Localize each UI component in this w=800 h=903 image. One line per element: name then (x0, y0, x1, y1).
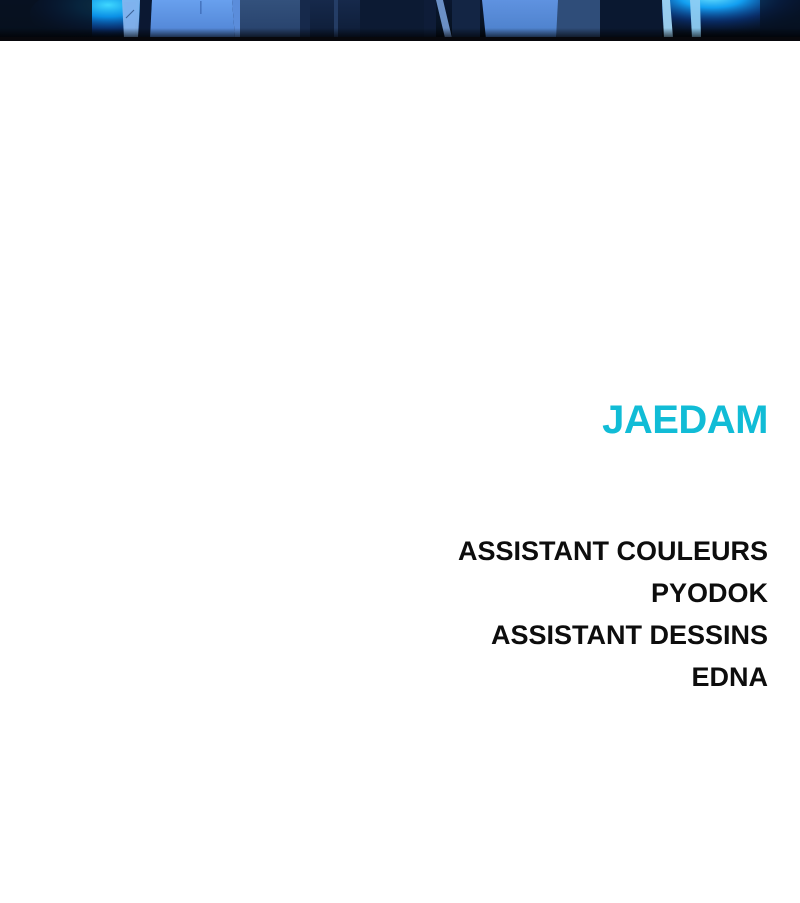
night-city-skyline-illustration (0, 0, 800, 41)
credit-name-pyodok: PYODOK (348, 572, 768, 614)
studio-name: JAEDAM (348, 398, 768, 442)
credit-list: ASSISTANT COULEURS PYODOK ASSISTANT DESS… (348, 530, 768, 698)
credit-role-dessins: ASSISTANT DESSINS (348, 614, 768, 656)
credits-block: JAEDAM ASSISTANT COULEURS PYODOK ASSISTA… (348, 398, 768, 442)
strip-bottom-edge (0, 38, 800, 41)
comic-page: JAEDAM ASSISTANT COULEURS PYODOK ASSISTA… (0, 0, 800, 903)
credit-name-edna: EDNA (348, 656, 768, 698)
artwork-strip (0, 0, 800, 41)
credit-role-couleurs: ASSISTANT COULEURS (348, 530, 768, 572)
